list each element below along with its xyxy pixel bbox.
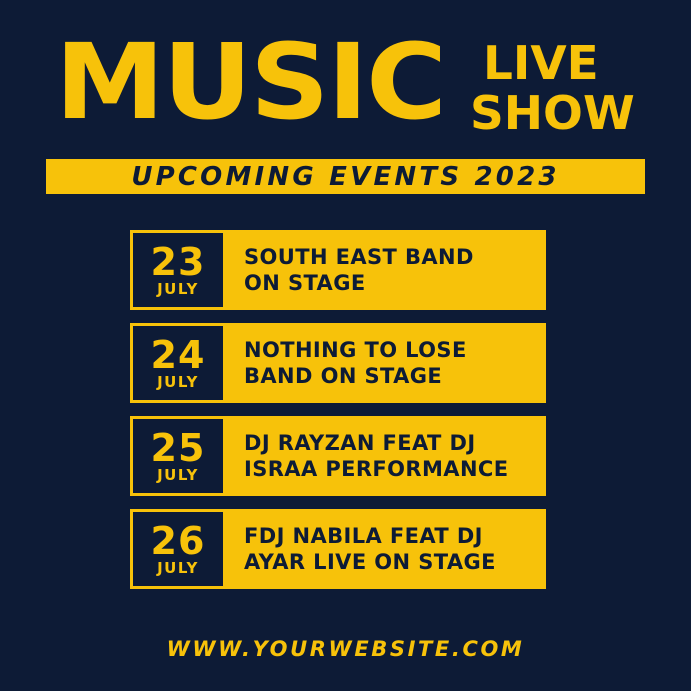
event-day: 23 <box>151 244 206 281</box>
event-day: 26 <box>151 523 206 560</box>
event-month: JULY <box>157 281 199 298</box>
event-list: 23 JULY SOUTH EAST BAND ON STAGE 24 JULY… <box>0 230 691 602</box>
event-date-box: 24 JULY <box>130 323 226 403</box>
event-month: JULY <box>157 560 199 577</box>
poster-canvas: MUSIC LIVE SHOW UPCOMING EVENTS 2023 23 … <box>0 0 691 691</box>
event-title-box: DJ RAYZAN FEAT DJ ISRAA PERFORMANCE <box>226 416 546 496</box>
event-title-line-1: SOUTH EAST BAND <box>244 244 474 270</box>
event-row[interactable]: 24 JULY NOTHING TO LOSE BAND ON STAGE <box>0 323 691 403</box>
title-show: SHOW <box>470 90 635 136</box>
event-date-box: 25 JULY <box>130 416 226 496</box>
event-title-box: SOUTH EAST BAND ON STAGE <box>226 230 546 310</box>
event-day: 24 <box>151 337 206 374</box>
event-title-line-1: FDJ NABILA FEAT DJ <box>244 523 483 549</box>
event-title-line-2: ON STAGE <box>244 270 366 296</box>
event-date-box: 26 JULY <box>130 509 226 589</box>
title-live: LIVE <box>483 40 599 86</box>
event-title-line-2: ISRAA PERFORMANCE <box>244 456 508 482</box>
subtitle-text: UPCOMING EVENTS 2023 <box>131 162 559 192</box>
poster-footer: WWW.YOURWEBSITE.COM <box>0 637 691 661</box>
event-day: 25 <box>151 430 206 467</box>
title-music: MUSIC <box>55 30 445 134</box>
event-row[interactable]: 23 JULY SOUTH EAST BAND ON STAGE <box>0 230 691 310</box>
poster-header: MUSIC LIVE SHOW <box>0 22 691 152</box>
event-title-line-2: BAND ON STAGE <box>244 363 442 389</box>
event-month: JULY <box>157 374 199 391</box>
website-url[interactable]: WWW.YOURWEBSITE.COM <box>167 637 525 661</box>
event-date-box: 23 JULY <box>130 230 226 310</box>
subtitle-banner: UPCOMING EVENTS 2023 <box>46 159 645 194</box>
event-title-box: FDJ NABILA FEAT DJ AYAR LIVE ON STAGE <box>226 509 546 589</box>
event-title-line-2: AYAR LIVE ON STAGE <box>244 549 496 575</box>
event-title-box: NOTHING TO LOSE BAND ON STAGE <box>226 323 546 403</box>
event-month: JULY <box>157 467 199 484</box>
event-row[interactable]: 26 JULY FDJ NABILA FEAT DJ AYAR LIVE ON … <box>0 509 691 589</box>
event-title-line-1: DJ RAYZAN FEAT DJ <box>244 430 476 456</box>
event-title-line-1: NOTHING TO LOSE <box>244 337 467 363</box>
event-row[interactable]: 25 JULY DJ RAYZAN FEAT DJ ISRAA PERFORMA… <box>0 416 691 496</box>
